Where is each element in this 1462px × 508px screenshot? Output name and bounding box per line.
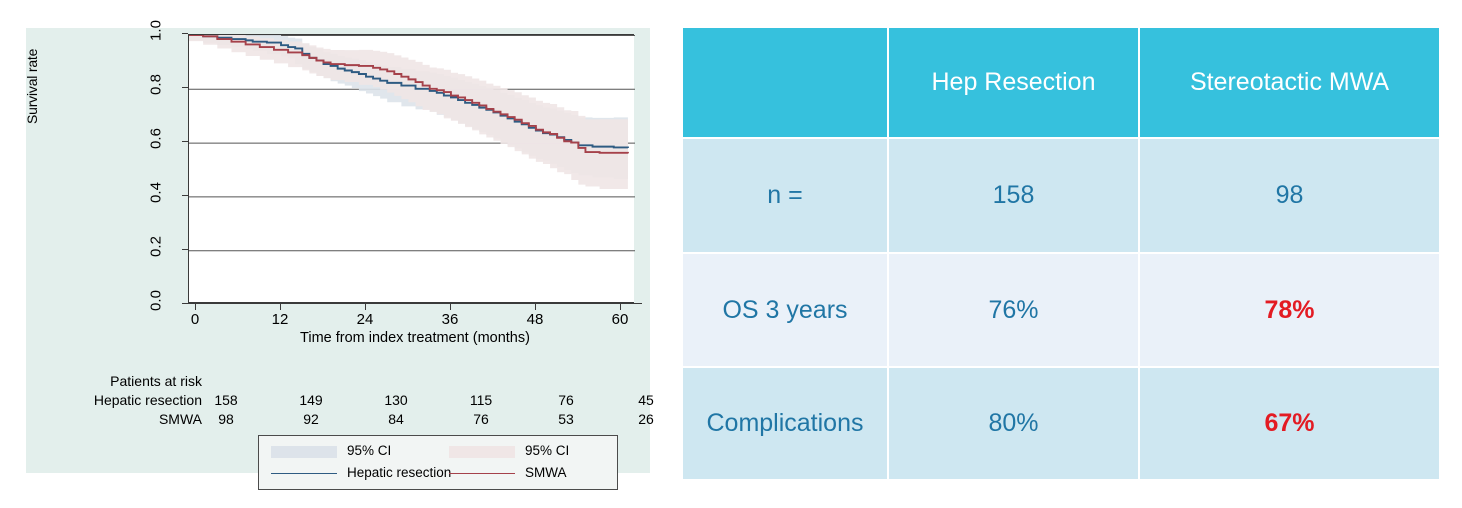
x-tick-4: 48 [515, 311, 555, 328]
risk-value: 84 [376, 411, 416, 427]
risk-row-label: SMWA [26, 411, 202, 427]
risk-value: 130 [376, 392, 416, 408]
y-tick-4: 0.8 [148, 67, 165, 103]
y-tick-3: 0.6 [148, 121, 165, 157]
y-tick-1: 0.2 [148, 229, 165, 265]
x-tickmark-0 [195, 304, 196, 310]
table-header-corner [683, 28, 887, 137]
x-axis-line [188, 303, 642, 304]
y-tick-0: 0.0 [148, 283, 165, 319]
x-tickmark-5 [620, 304, 621, 310]
risk-row-hepatic-resection: Hepatic resection 158 149 130 115 76 45 [26, 392, 650, 411]
risk-value: 158 [206, 392, 246, 408]
x-tick-5: 60 [600, 311, 640, 328]
table-row-label-n: n = [683, 139, 887, 252]
table-cell-os3y-hep: 76% [889, 254, 1138, 366]
patients-at-risk-title: Patients at risk [26, 373, 202, 389]
x-tickmark-1 [280, 304, 281, 310]
legend-line-hepatic [271, 473, 337, 474]
legend-label-ci-smwa: 95% CI [525, 443, 569, 458]
x-tickmark-2 [365, 304, 366, 310]
table-cell-os3y-mwa: 78% [1140, 254, 1439, 366]
risk-value: 26 [626, 411, 666, 427]
risk-value: 98 [206, 411, 246, 427]
x-axis-label: Time from index treatment (months) [188, 330, 642, 346]
x-tickmark-4 [535, 304, 536, 310]
legend-label-smwa: SMWA [525, 465, 567, 480]
table-header-stereotactic-mwa: Stereotactic MWA [1140, 28, 1439, 137]
risk-value: 45 [626, 392, 666, 408]
risk-value: 115 [461, 392, 501, 408]
legend-line-smwa [449, 473, 515, 474]
legend-swatch-ci-smwa [449, 446, 515, 458]
table-row-label-complications: Complications [683, 368, 887, 479]
y-axis-label: Survival rate [24, 49, 40, 124]
y-tick-5: 1.0 [148, 13, 165, 49]
legend-swatch-ci-hepatic [271, 446, 337, 458]
risk-row-smwa: SMWA 98 92 84 76 53 26 [26, 411, 650, 430]
ci-band-smwa [189, 35, 628, 189]
legend-label-hepatic: Hepatic resection [347, 465, 451, 480]
risk-value: 76 [546, 392, 586, 408]
table-cell-n-mwa: 98 [1140, 139, 1439, 252]
risk-row-label: Hepatic resection [26, 392, 202, 408]
table-cell-n-hep: 158 [889, 139, 1138, 252]
risk-value: 53 [546, 411, 586, 427]
x-tick-1: 12 [260, 311, 300, 328]
x-tick-0: 0 [175, 311, 215, 328]
table-cell-complications-mwa: 67% [1140, 368, 1439, 479]
risk-value: 92 [291, 411, 331, 427]
x-tick-2: 24 [345, 311, 385, 328]
comparison-table: Hep Resection Stereotactic MWA n = 158 9… [683, 28, 1435, 473]
table-header-hep-resection: Hep Resection [889, 28, 1138, 137]
table-cell-complications-hep: 80% [889, 368, 1138, 479]
chart-legend: 95% CI 95% CI Hepatic resection SMWA [258, 435, 618, 490]
kaplan-meier-figure-panel: Survival rate 0.0 0.2 0.4 0.6 0.8 1.0 [26, 28, 650, 473]
survival-curves-svg [189, 35, 635, 304]
x-tick-3: 36 [430, 311, 470, 328]
y-tick-2: 0.4 [148, 175, 165, 211]
x-tickmark-3 [450, 304, 451, 310]
legend-label-ci-hepatic: 95% CI [347, 443, 391, 458]
plot-area [188, 34, 634, 303]
risk-value: 76 [461, 411, 501, 427]
risk-value: 149 [291, 392, 331, 408]
table-row-label-os3y: OS 3 years [683, 254, 887, 366]
